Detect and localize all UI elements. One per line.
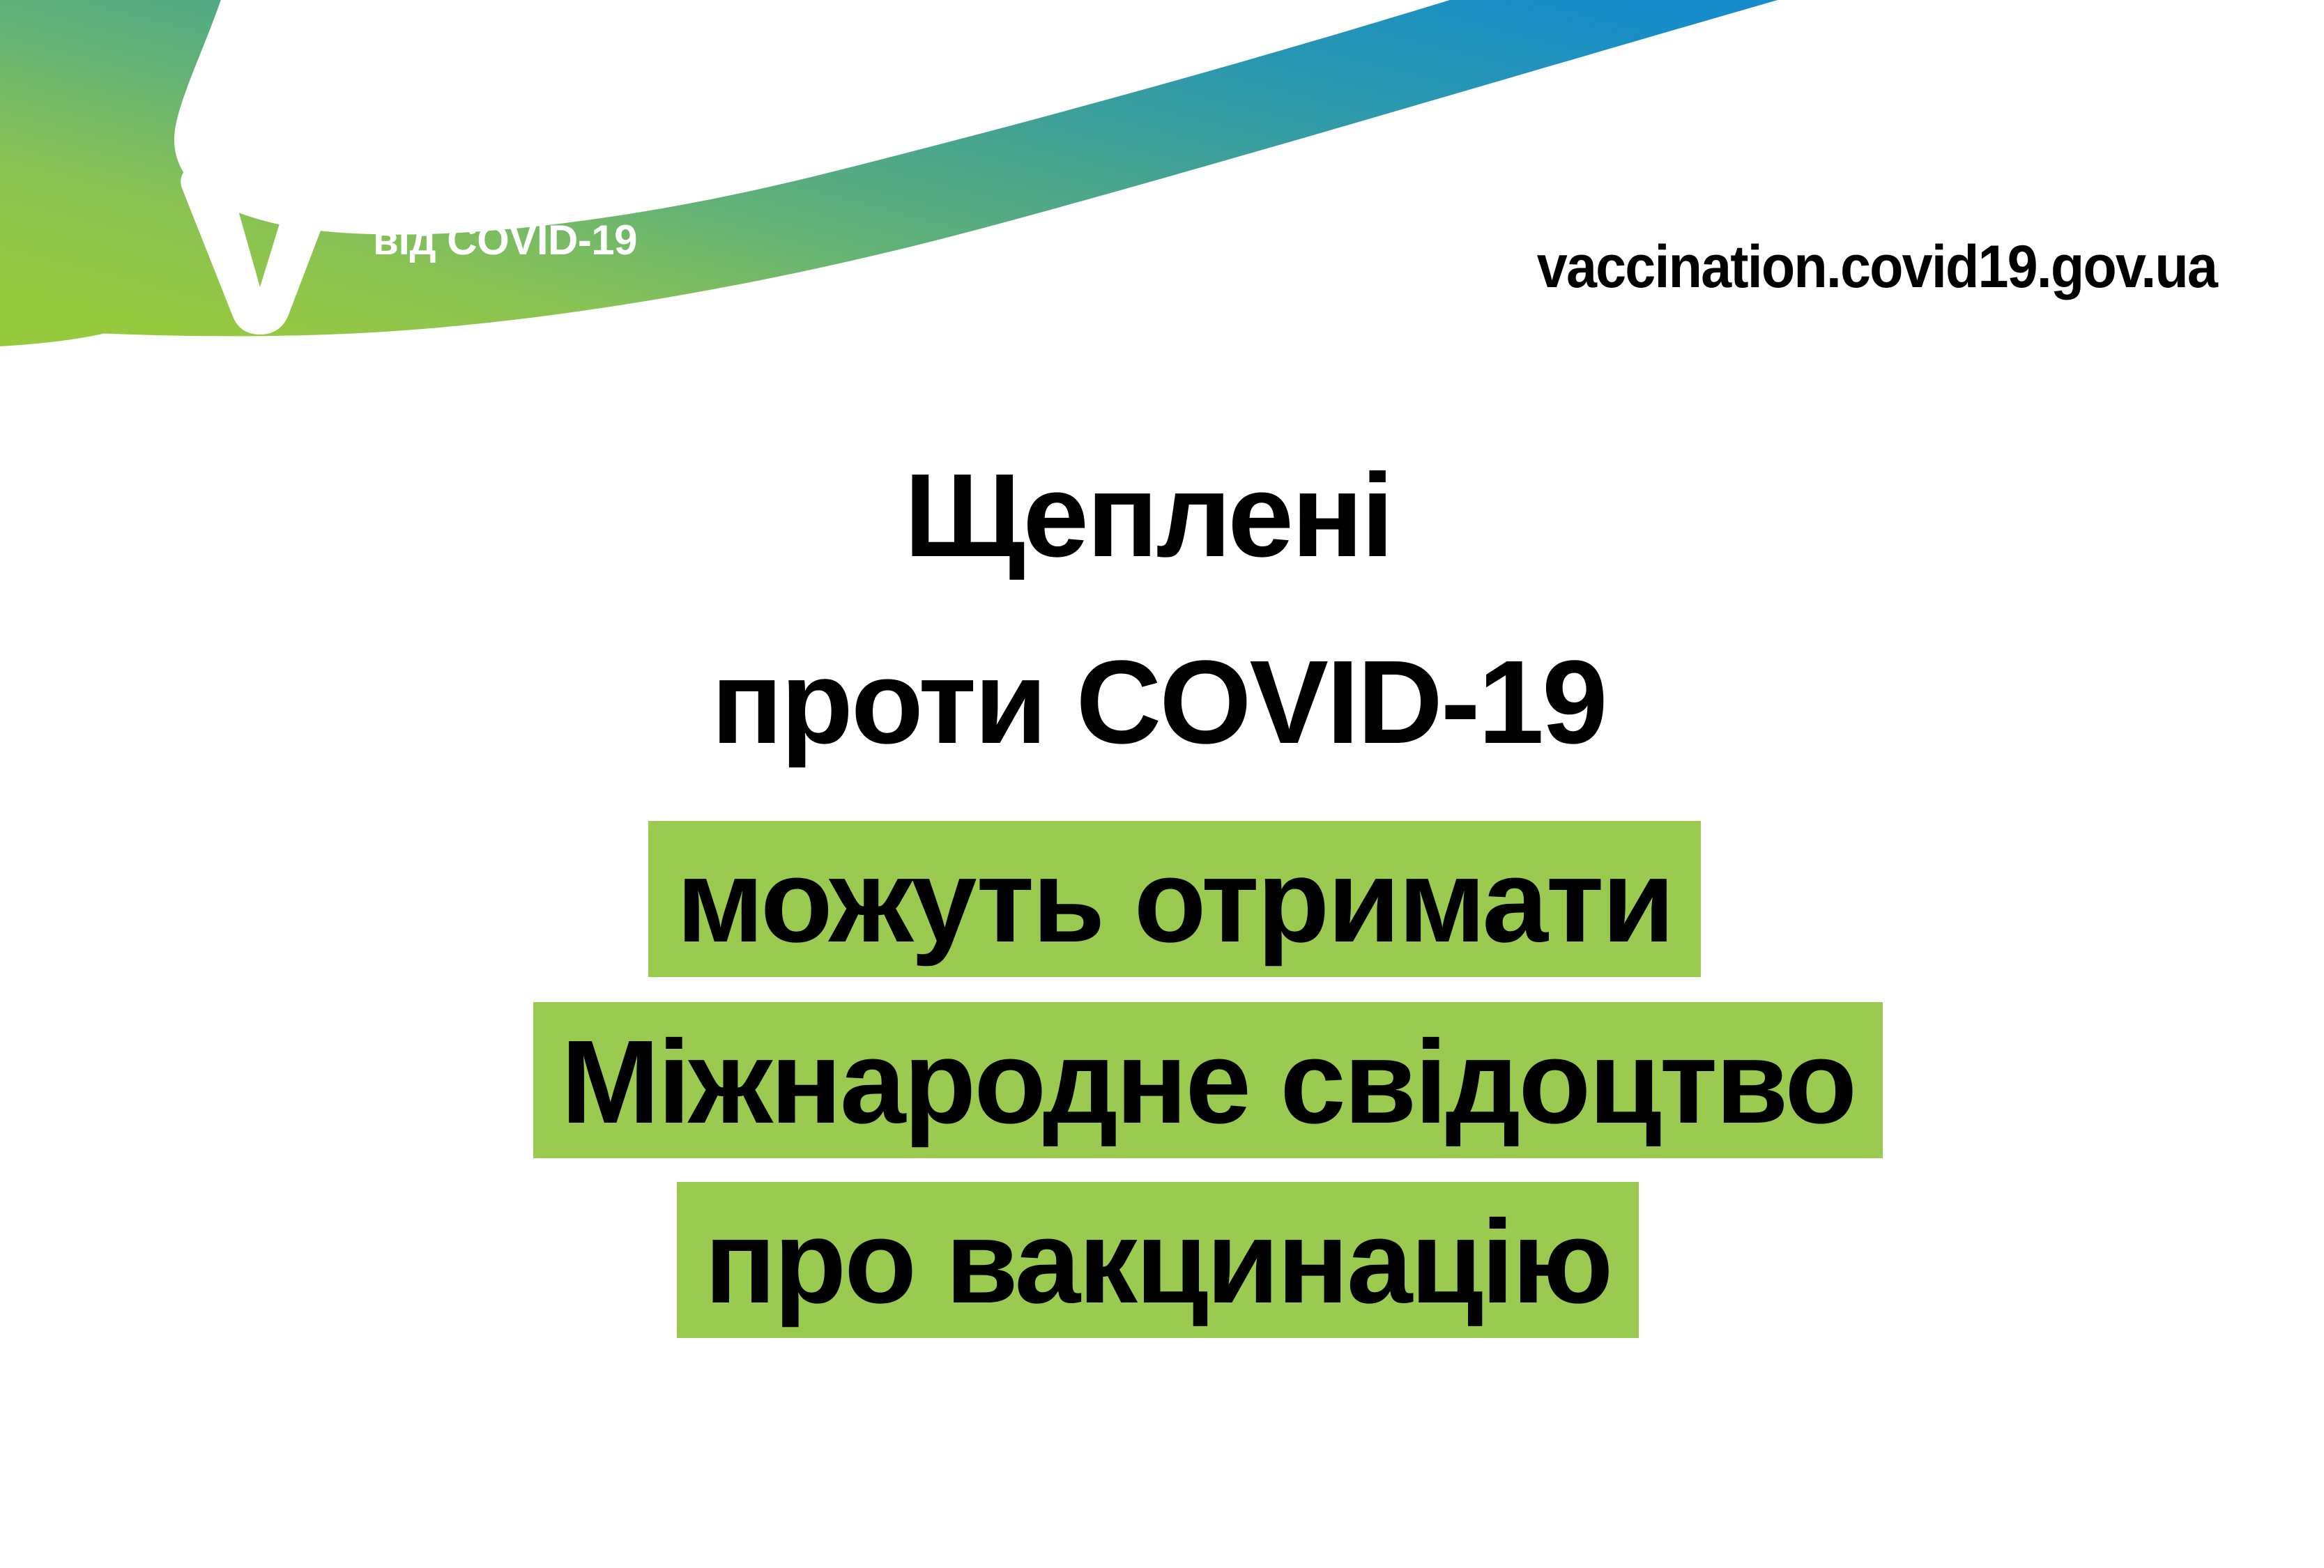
logo-dot	[279, 112, 319, 173]
highlight-line-3: про вакцинацію	[677, 1182, 1639, 1338]
headline-plain: Щеплені проти COVID-19	[0, 446, 2324, 772]
headline-line-2: проти COVID-19	[0, 633, 2324, 772]
headline-highlighted: можуть отримати Міжнародне свідоцтво про…	[0, 821, 2324, 1338]
logo-wordmark: Вакцинація від COVID-19	[373, 163, 701, 266]
brand-logo: Вакцинація від COVID-19	[171, 105, 701, 335]
headline-line-1: Щеплені	[0, 446, 2324, 585]
highlight-row-3: про вакцинацію	[0, 1182, 2320, 1338]
highlight-row-1: можуть отримати	[13, 821, 2324, 977]
logo-line-1: Вакцинація	[373, 163, 701, 215]
logo-v-stroke	[181, 166, 336, 335]
v-checkmark-icon	[171, 105, 352, 335]
highlight-line-1: можуть отримати	[648, 821, 1700, 977]
site-url[interactable]: vaccination.covid19.gov.ua	[1435, 235, 2217, 299]
highlight-row-2: Міжнародне свідоцтво	[46, 1002, 2324, 1158]
logo-line-2: від COVID-19	[373, 215, 701, 266]
highlight-line-2: Міжнародне свідоцтво	[533, 1002, 1883, 1158]
